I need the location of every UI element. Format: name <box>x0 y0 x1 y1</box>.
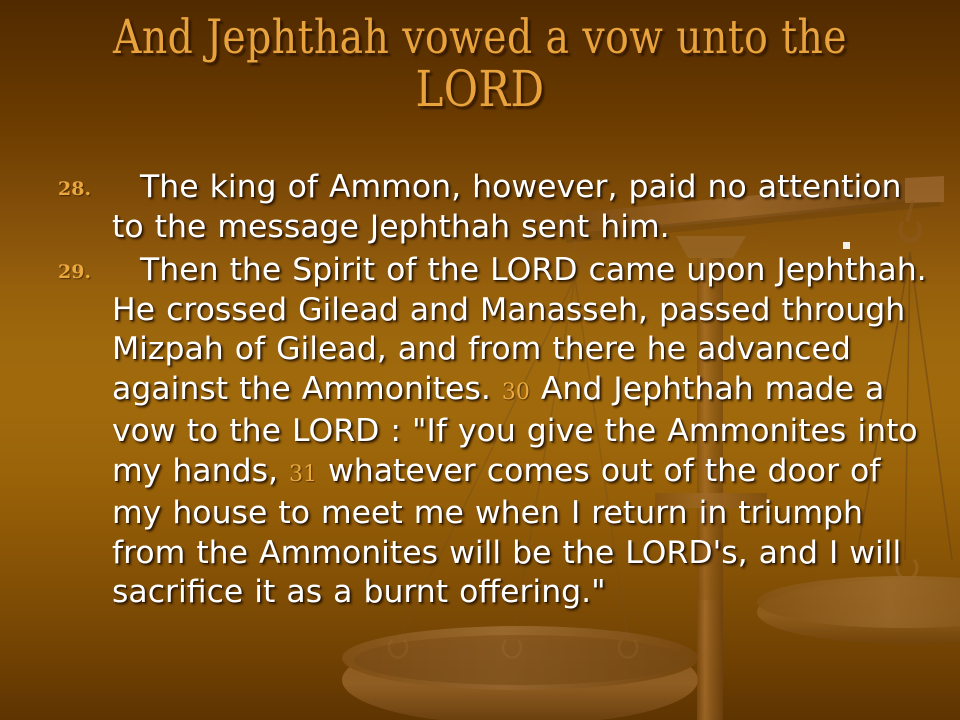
inline-verse-number-30: 30 <box>502 380 530 405</box>
verse-text-28: The king of Ammon, however, paid no atte… <box>112 168 940 247</box>
verse-item-29: 29. Then the Spirit of the LORD came upo… <box>52 251 940 613</box>
left-pan-hook-a <box>389 640 407 657</box>
verse-28-body: The king of Ammon, however, paid no atte… <box>112 169 902 245</box>
inline-verse-number-31: 31 <box>289 462 317 487</box>
title-line-1: And Jephthah vowed a vow unto the <box>34 14 927 62</box>
verse-text-29: Then the Spirit of the LORD came upon Je… <box>112 251 940 613</box>
left-scale-pan-inner <box>354 635 686 685</box>
verse-list: 28. The king of Ammon, however, paid no … <box>52 168 940 617</box>
verse-marker-28: 28. <box>58 178 91 200</box>
slide-title: And Jephthah vowed a vow unto the LORD <box>0 14 960 115</box>
slide: And Jephthah vowed a vow unto the LORD 2… <box>0 0 960 720</box>
title-line-2: LORD <box>34 64 927 115</box>
left-pan-hook-c <box>619 640 637 657</box>
left-scale-pan-body <box>342 635 698 720</box>
left-scale-pan-rim <box>342 626 698 690</box>
scale-post-foreground <box>697 600 723 720</box>
left-pan-hook-b <box>503 640 521 657</box>
verse-item-28: 28. The king of Ammon, however, paid no … <box>52 168 940 247</box>
verse-marker-29: 29. <box>58 261 91 283</box>
